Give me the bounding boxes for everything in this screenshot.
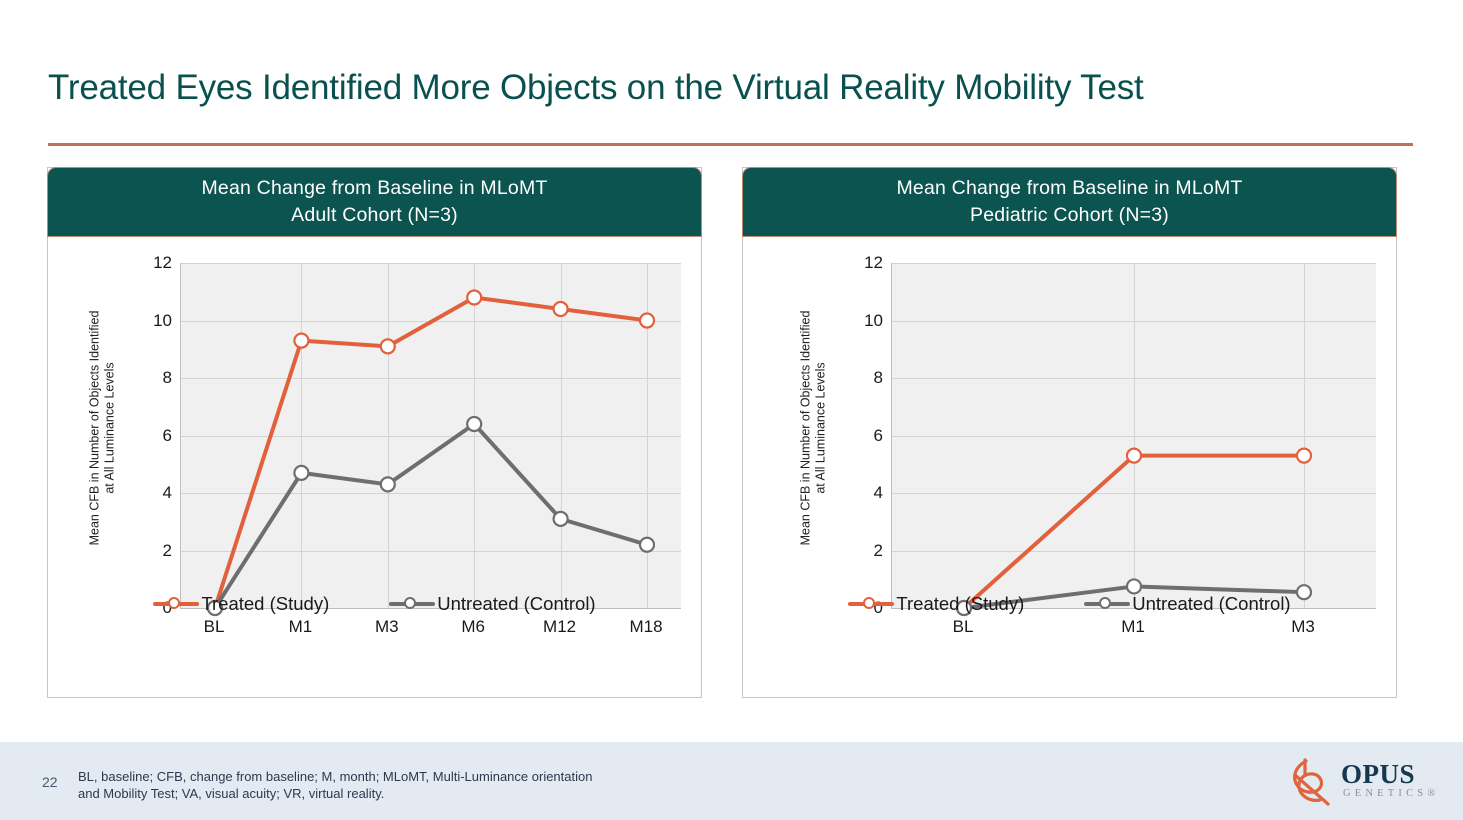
data-point — [381, 477, 395, 491]
data-point — [640, 314, 654, 328]
title-divider — [48, 143, 1413, 146]
legend-pediatric: Treated (Study)Untreated (Control) — [743, 593, 1396, 615]
y-tick-label: 8 — [841, 368, 883, 388]
y-tick-label: 12 — [130, 253, 172, 273]
legend-marker-icon — [389, 595, 435, 613]
x-tick-label: M18 — [629, 617, 662, 637]
x-tick-label: M1 — [289, 617, 313, 637]
legend-marker-icon — [848, 595, 894, 613]
x-tick-label: M6 — [461, 617, 485, 637]
plot-area-adult — [180, 263, 681, 609]
legend-label: Untreated (Control) — [437, 593, 595, 615]
x-tick-label: M3 — [375, 617, 399, 637]
plot-adult: Mean CFB in Number of Objects Identified… — [48, 238, 701, 697]
legend-item[interactable]: Untreated (Control) — [1084, 593, 1290, 615]
chart-panel-adult: Mean Change from Baseline in MLoMT Adult… — [47, 167, 702, 698]
page-number: 22 — [42, 774, 58, 790]
legend-label: Treated (Study) — [201, 593, 329, 615]
x-tick-label: BL — [204, 617, 225, 637]
logo-subtitle: GENETICS® — [1343, 788, 1440, 799]
data-point — [1127, 449, 1141, 463]
data-point — [294, 334, 308, 348]
legend-marker-icon — [1084, 595, 1130, 613]
y-tick-label: 2 — [130, 541, 172, 561]
series-layer-adult — [181, 263, 681, 608]
chart-panel-pediatric: Mean Change from Baseline in MLoMT Pedia… — [742, 167, 1397, 698]
page-title: Treated Eyes Identified More Objects on … — [48, 66, 1418, 110]
x-tick-label: M12 — [543, 617, 576, 637]
data-point — [1127, 579, 1141, 593]
y-axis-title-adult-line1: Mean CFB in Number of Objects Identified — [87, 311, 102, 546]
footnote-line1: BL, baseline; CFB, change from baseline;… — [78, 768, 698, 785]
y-tick-label: 6 — [841, 426, 883, 446]
data-point — [554, 302, 568, 316]
x-tick-label: BL — [953, 617, 974, 637]
y-tick-label: 6 — [130, 426, 172, 446]
data-point — [1297, 449, 1311, 463]
x-tick-label: M3 — [1291, 617, 1315, 637]
plot-pediatric: Mean CFB in Number of Objects Identified… — [743, 238, 1396, 697]
plot-area-pediatric — [891, 263, 1376, 609]
data-point — [467, 417, 481, 431]
chart-header-adult: Mean Change from Baseline in MLoMT Adult… — [47, 167, 702, 237]
footnote: BL, baseline; CFB, change from baseline;… — [78, 768, 698, 802]
chart-header-adult-line2: Adult Cohort (N=3) — [48, 202, 701, 229]
series-layer-pediatric — [892, 263, 1376, 608]
data-point — [554, 512, 568, 526]
legend-marker-icon — [153, 595, 199, 613]
data-point — [381, 339, 395, 353]
y-axis-title-pediatric-line1: Mean CFB in Number of Objects Identified — [798, 311, 813, 546]
y-tick-label: 12 — [841, 253, 883, 273]
legend-label: Treated (Study) — [896, 593, 1024, 615]
y-axis-title-adult: Mean CFB in Number of Objects Identified… — [76, 238, 128, 618]
y-tick-label: 4 — [130, 483, 172, 503]
chart-header-adult-line1: Mean Change from Baseline in MLoMT — [201, 177, 547, 199]
y-tick-label: 10 — [841, 311, 883, 331]
data-point — [294, 466, 308, 480]
y-tick-label: 4 — [841, 483, 883, 503]
opus-genetics-logo: OPUS GENETICS® — [1283, 757, 1433, 809]
logo-wordmark: OPUS — [1341, 759, 1415, 790]
y-axis-title-adult-line2: at All Luminance Levels — [102, 311, 117, 546]
legend-item[interactable]: Treated (Study) — [848, 593, 1024, 615]
y-tick-label: 2 — [841, 541, 883, 561]
legend-item[interactable]: Treated (Study) — [153, 593, 329, 615]
legend-item[interactable]: Untreated (Control) — [389, 593, 595, 615]
series-line — [215, 424, 647, 608]
legend-label: Untreated (Control) — [1132, 593, 1290, 615]
legend-adult: Treated (Study)Untreated (Control) — [48, 593, 701, 615]
y-tick-label: 8 — [130, 368, 172, 388]
y-axis-title-pediatric: Mean CFB in Number of Objects Identified… — [787, 238, 839, 618]
data-point — [640, 538, 654, 552]
opus-helix-icon — [1283, 757, 1345, 809]
y-axis-title-pediatric-line2: at All Luminance Levels — [813, 311, 828, 546]
data-point — [467, 291, 481, 305]
y-tick-label: 10 — [130, 311, 172, 331]
chart-header-pediatric-line1: Mean Change from Baseline in MLoMT — [896, 177, 1242, 199]
footnote-line2: and Mobility Test; VA, visual acuity; VR… — [78, 785, 698, 802]
chart-header-pediatric: Mean Change from Baseline in MLoMT Pedia… — [742, 167, 1397, 237]
x-tick-label: M1 — [1121, 617, 1145, 637]
chart-header-pediatric-line2: Pediatric Cohort (N=3) — [743, 202, 1396, 229]
